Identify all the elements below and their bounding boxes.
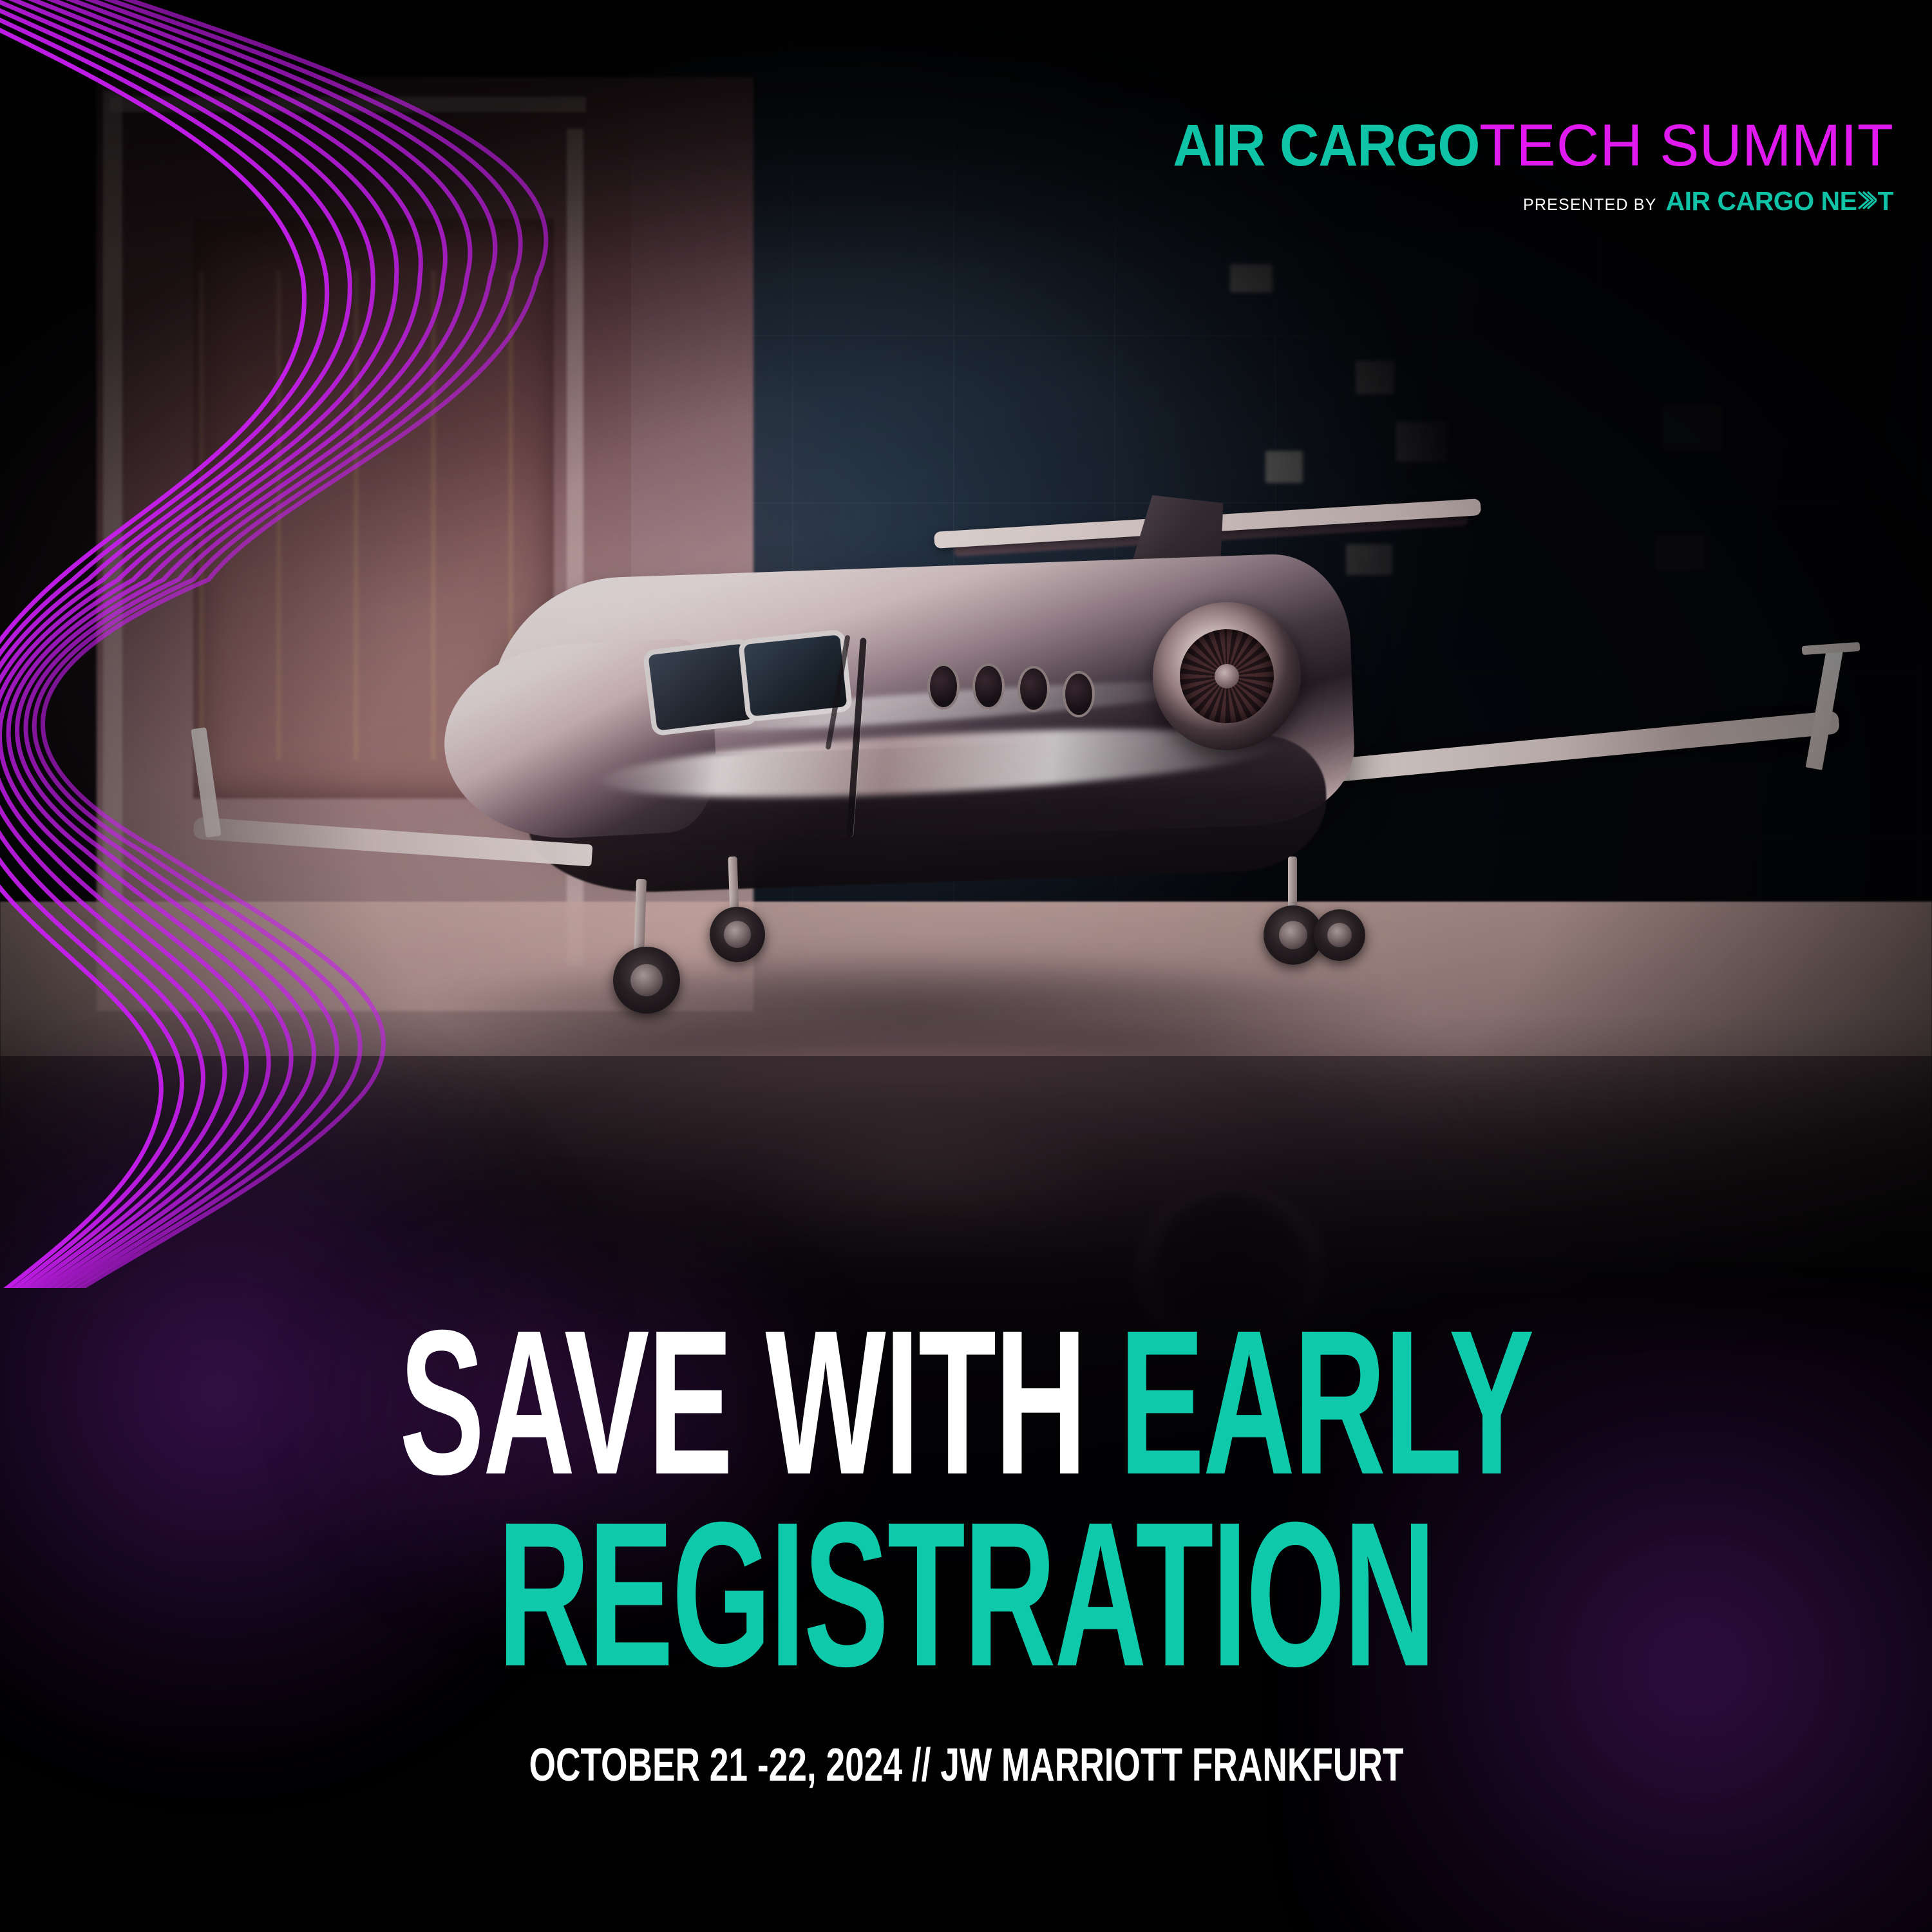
- logo-presenter-line: PRESENTED BY AIR CARGO NE T: [1146, 188, 1893, 214]
- presented-by-label: PRESENTED BY: [1523, 197, 1657, 213]
- event-details-text: OCTOBER 21 -22, 2024 // JW MARRIOTT FRAN…: [529, 1739, 1403, 1792]
- logo-summit: SUMMIT: [1643, 113, 1893, 178]
- logo-tech: TECH: [1479, 113, 1643, 178]
- logo-wordmark: AIR CARGOTECH SUMMIT: [1146, 116, 1893, 175]
- acn-text-after-x: T: [1877, 188, 1893, 214]
- logo-air-cargo: AIR CARGO: [1173, 116, 1479, 175]
- event-logo-lockup: AIR CARGOTECH SUMMIT PRESENTED BY AIR CA…: [1146, 116, 1893, 214]
- air-cargo-next-wordmark: AIR CARGO NE T: [1665, 188, 1893, 214]
- event-details-bar: OCTOBER 21 -22, 2024 // JW MARRIOTT FRAN…: [0, 1739, 1932, 1792]
- headline-block: SAVE WITH EARLY REGISTRATION: [0, 1307, 1932, 1689]
- poster-canvas: AIR CARGOTECH SUMMIT PRESENTED BY AIR CA…: [0, 0, 1932, 1932]
- acn-text-before-x: AIR CARGO NE: [1665, 188, 1857, 214]
- headline-line-1: SAVE WITH EARLY: [367, 1307, 1565, 1497]
- headline-line-2: REGISTRATION: [367, 1499, 1565, 1689]
- acn-stylized-x-icon: [1857, 188, 1877, 207]
